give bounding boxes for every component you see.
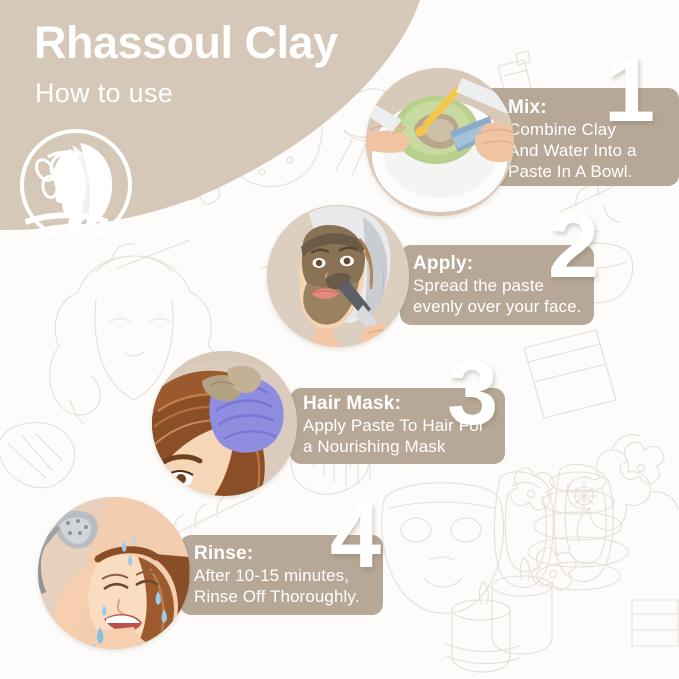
- ginger-root-line-art: [568, 435, 678, 542]
- step-1-line1: Combine Clay: [508, 120, 678, 141]
- infographic-poster: Rhassoul Clay Rhassoul Clay How to use: [0, 0, 679, 679]
- step-4-line1: After 10-15 minutes,: [194, 566, 390, 587]
- step-4-line2: Rinse Off Thoroughly.: [194, 587, 390, 608]
- flower-line-art: [532, 548, 576, 590]
- step-2-line1: Spread the paste: [413, 276, 599, 297]
- step-3-image: [152, 351, 297, 496]
- shell-line-art: [0, 423, 74, 488]
- flower-line-art: [620, 442, 664, 484]
- step-1-text: Mix: Combine Clay And Water Into a Paste…: [508, 96, 678, 183]
- cosmetic-tube-line-art: [524, 330, 616, 418]
- page-title: Rhassoul Clay: [34, 17, 338, 69]
- step-2-text: Apply: Spread the paste evenly over your…: [413, 252, 599, 318]
- step-4-image: [38, 497, 190, 649]
- spa-slippers-line-art: [494, 464, 613, 587]
- step-2-title: Apply:: [413, 252, 599, 275]
- sheet-mask-face-line-art: [382, 483, 504, 614]
- step-1-title: Mix:: [508, 96, 678, 119]
- step-3-line2: a Nourishing Mask: [303, 437, 513, 458]
- woman-profile-leaf-logo: [18, 127, 134, 243]
- step-4-title: Rinse:: [194, 542, 390, 565]
- step-2-line2: evenly over your face.: [413, 297, 599, 318]
- mixing-clay-in-bowl-illustration: [366, 68, 514, 216]
- step-3-title: Hair Mask:: [303, 392, 513, 415]
- step-4-text: Rinse: After 10-15 minutes, Rinse Off Th…: [194, 542, 390, 608]
- herb-branch-line-art: [118, 240, 190, 268]
- step-1-line2: And Water Into a: [508, 141, 678, 162]
- stacked-stones-line-art: [528, 472, 628, 590]
- step-3-text: Hair Mask: Apply Paste To Hair For a Nou…: [303, 392, 513, 458]
- candles-line-art: [446, 558, 552, 672]
- step-3-line1: Apply Paste To Hair For: [303, 416, 513, 437]
- woman-applying-face-mask-illustration: [267, 205, 409, 347]
- step-1-image: [366, 68, 514, 216]
- page-subtitle: How to use: [35, 78, 173, 109]
- step-1-line3: Paste In A Bowl.: [508, 162, 678, 183]
- step-2-image: [267, 205, 409, 347]
- applying-hair-mask-illustration: [152, 351, 297, 496]
- towel-stack-line-art: [632, 600, 678, 646]
- flower-line-art: [510, 468, 554, 510]
- woman-rinsing-in-shower-illustration: [38, 497, 190, 649]
